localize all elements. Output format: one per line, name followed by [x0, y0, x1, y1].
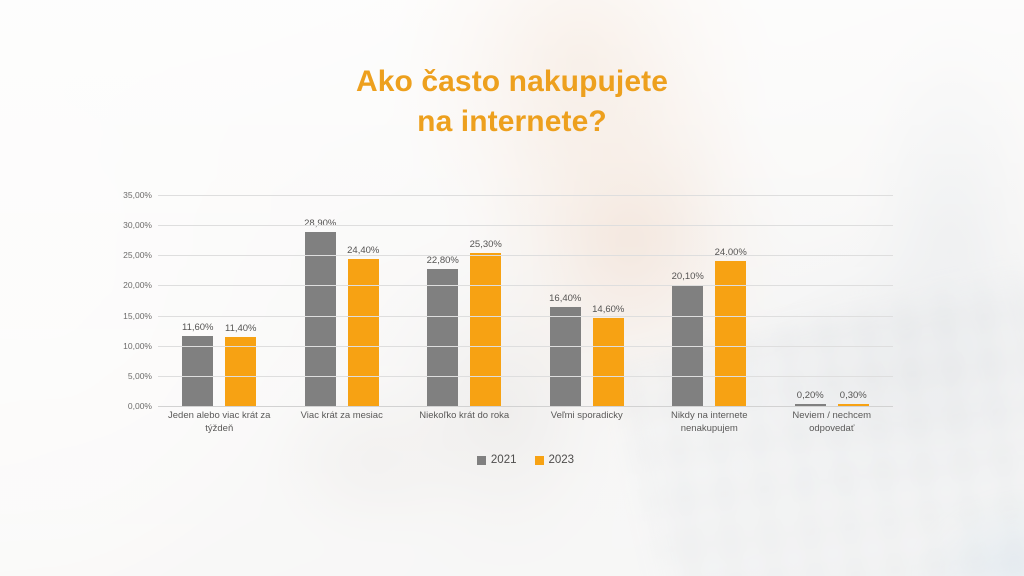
bar-column: 25,30%: [470, 195, 501, 406]
legend-swatch-icon: [477, 456, 486, 465]
bar-column: 22,80%: [427, 195, 458, 406]
gridline: [158, 316, 893, 317]
legend-label: 2021: [491, 454, 517, 466]
y-axis-tick-label: 5,00%: [128, 371, 152, 381]
legend-item-2023[interactable]: 2023: [535, 454, 575, 466]
bar-group: 11,60%11,40%: [158, 195, 281, 406]
x-axis-category-label: Niekoľko krát do roka: [403, 410, 526, 435]
bar-2021[interactable]: [305, 232, 336, 406]
bar-column: 11,40%: [225, 195, 256, 406]
bar-value-label: 20,10%: [672, 271, 704, 282]
bar-chart: 35,00%30,00%25,00%20,00%15,00%10,00%5,00…: [112, 182, 912, 478]
x-axis-category-label: Jeden alebo viac krát za týždeň: [158, 410, 281, 435]
bar-value-label: 16,40%: [549, 293, 581, 304]
y-axis-tick-label: 25,00%: [123, 250, 152, 260]
bar-column: 24,00%: [715, 195, 746, 406]
y-axis: 35,00%30,00%25,00%20,00%15,00%10,00%5,00…: [112, 182, 158, 406]
bar-value-label: 0,20%: [797, 390, 824, 401]
bar-value-label: 25,30%: [470, 239, 502, 250]
bar-2023[interactable]: [593, 318, 624, 406]
bar-value-label: 14,60%: [592, 304, 624, 315]
bar-column: 28,90%: [305, 195, 336, 406]
y-axis-tick-label: 30,00%: [123, 220, 152, 230]
bar-group: 0,20%0,30%: [771, 195, 894, 406]
bar-column: 0,20%: [795, 195, 826, 406]
bar-pair: 22,80%25,30%: [403, 195, 526, 406]
bar-2021[interactable]: [550, 307, 581, 406]
axis-baseline: [158, 406, 893, 407]
bar-2023[interactable]: [715, 261, 746, 406]
slide: Ako často nakupujete na internete? 35,00…: [0, 0, 1024, 576]
bar-column: 14,60%: [593, 195, 624, 406]
bar-value-label: 0,30%: [840, 390, 867, 401]
bar-pair: 28,90%24,40%: [281, 195, 404, 406]
bar-column: 16,40%: [550, 195, 581, 406]
bar-value-label: 24,00%: [715, 247, 747, 258]
bar-group: 22,80%25,30%: [403, 195, 526, 406]
bar-column: 20,10%: [672, 195, 703, 406]
y-axis-tick-label: 10,00%: [123, 341, 152, 351]
gridline: [158, 195, 893, 196]
legend-item-2021[interactable]: 2021: [477, 454, 517, 466]
gridline: [158, 285, 893, 286]
bar-2021[interactable]: [427, 269, 458, 406]
bar-pair: 20,10%24,00%: [648, 195, 771, 406]
gridline: [158, 346, 893, 347]
gridline: [158, 376, 893, 377]
x-axis-category-label: Neviem / nechcem odpovedať: [771, 410, 894, 435]
y-axis-tick-label: 0,00%: [128, 401, 152, 411]
bar-column: 11,60%: [182, 195, 213, 406]
gridline: [158, 225, 893, 226]
page-title: Ako často nakupujete na internete?: [0, 62, 1024, 142]
y-axis-tick-label: 35,00%: [123, 190, 152, 200]
bar-column: 0,30%: [838, 195, 869, 406]
x-axis-category-label: Viac krát za mesiac: [281, 410, 404, 435]
bar-2023[interactable]: [225, 337, 256, 406]
x-axis-category-label: Veľmi sporadicky: [526, 410, 649, 435]
bar-groups: 11,60%11,40%28,90%24,40%22,80%25,30%16,4…: [158, 195, 893, 406]
x-axis-category-label: Nikdy na internete nenakupujem: [648, 410, 771, 435]
chart-legend: 20212023: [158, 454, 893, 466]
legend-swatch-icon: [535, 456, 544, 465]
gridline: [158, 255, 893, 256]
bar-pair: 0,20%0,30%: [771, 195, 894, 406]
plot-area: 11,60%11,40%28,90%24,40%22,80%25,30%16,4…: [158, 195, 893, 406]
legend-label: 2023: [549, 454, 575, 466]
bar-value-label: 11,60%: [182, 322, 214, 333]
bar-group: 28,90%24,40%: [281, 195, 404, 406]
bar-value-label: 11,40%: [225, 323, 257, 334]
bar-pair: 11,60%11,40%: [158, 195, 281, 406]
bar-group: 20,10%24,00%: [648, 195, 771, 406]
bar-value-label: 28,90%: [304, 218, 336, 229]
bar-column: 24,40%: [348, 195, 379, 406]
y-axis-tick-label: 20,00%: [123, 280, 152, 290]
bar-2023[interactable]: [348, 259, 379, 406]
bar-2023[interactable]: [470, 253, 501, 406]
bar-value-label: 24,40%: [347, 245, 379, 256]
y-axis-tick-label: 15,00%: [123, 311, 152, 321]
x-axis: Jeden alebo viac krát za týždeňViac krát…: [158, 410, 893, 435]
bar-group: 16,40%14,60%: [526, 195, 649, 406]
bar-pair: 16,40%14,60%: [526, 195, 649, 406]
